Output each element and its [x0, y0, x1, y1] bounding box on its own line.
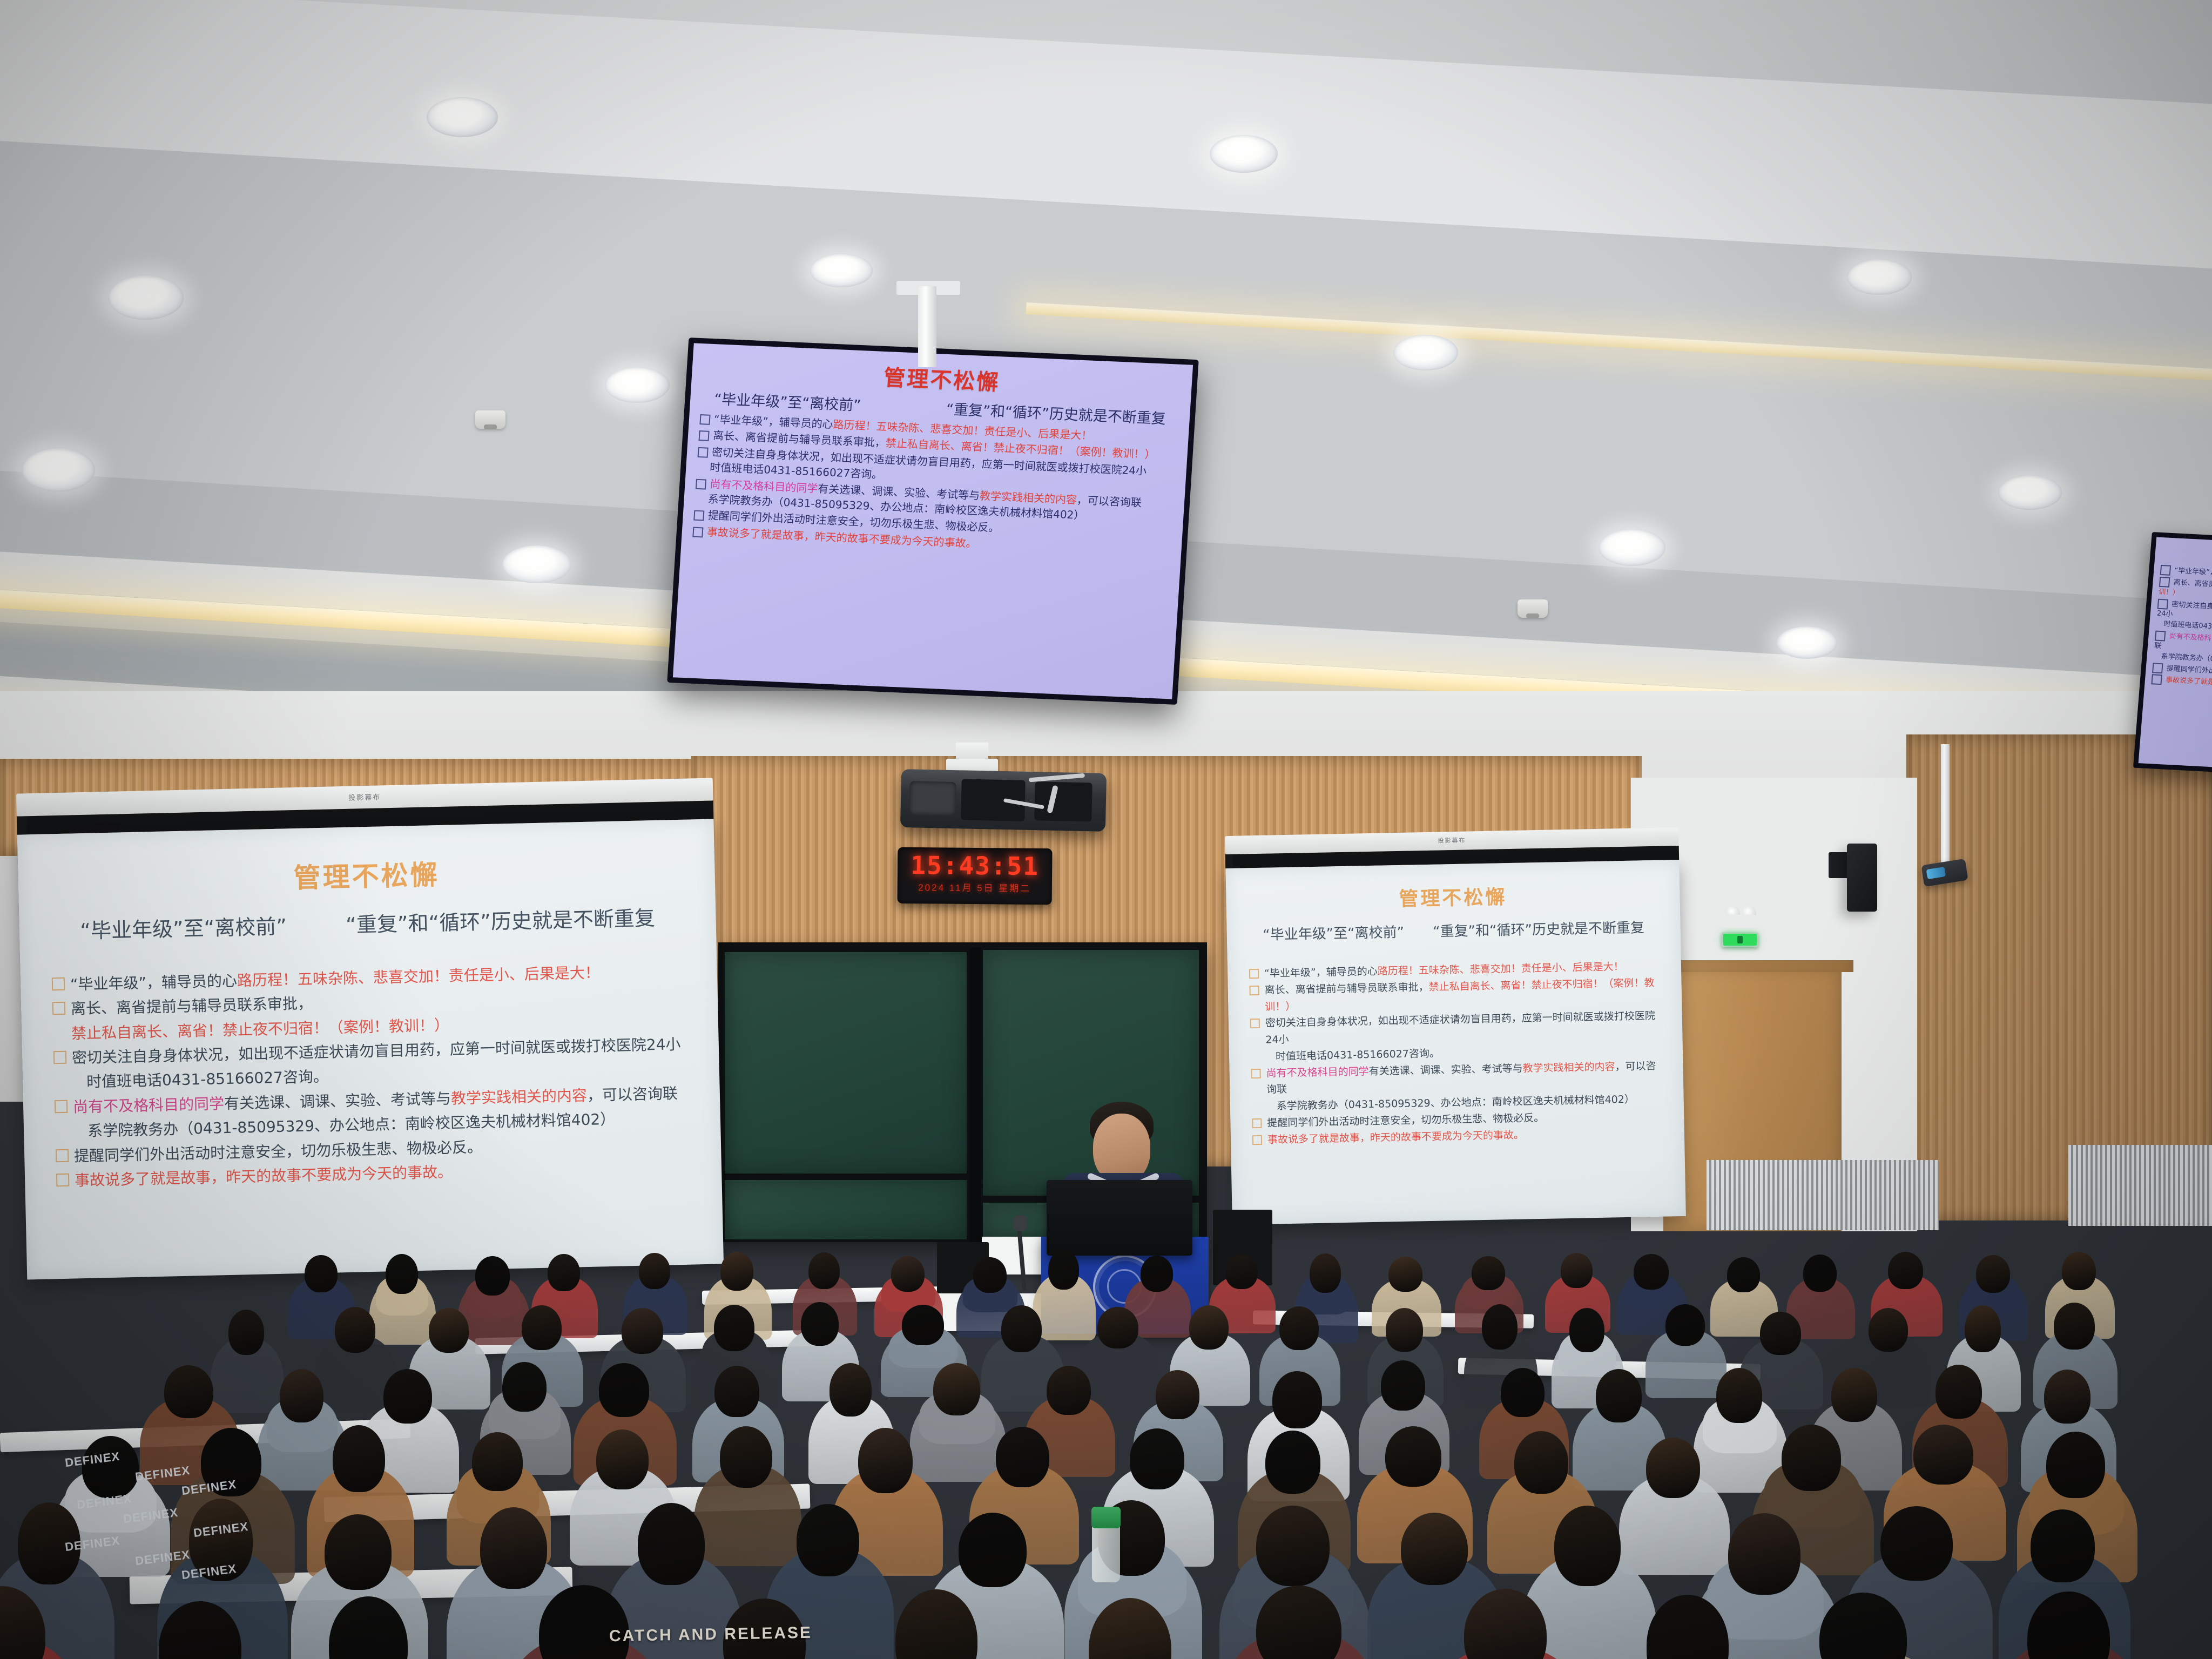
- slide-text-segment: 事故说多了就是故事，昨天的故事不要成为今天的事故。: [75, 1163, 453, 1189]
- audience-member-head: [1888, 1252, 1923, 1289]
- bullet-checkbox-icon: [55, 1100, 68, 1114]
- bullet-checkbox-icon: [2152, 663, 2163, 673]
- audience-member-head: [1388, 1257, 1422, 1292]
- audience-member-head: [305, 1255, 338, 1292]
- audience-member-head: [720, 1426, 772, 1488]
- digital-clock: 15:43:51 2024 11月 5日 星期二: [898, 847, 1053, 905]
- audience-member-head: [2062, 1252, 2096, 1290]
- slide-text-segment: “毕业年级”，辅导员的心: [1264, 966, 1378, 980]
- audience-member-head: [164, 1365, 213, 1418]
- audience-member-head: [801, 1302, 839, 1346]
- audience-member-head: [858, 1428, 913, 1493]
- slide-left-subtitle-b: “重复”和“循环”历史就是不断重复: [346, 901, 656, 938]
- audience-member-head: [1386, 1308, 1423, 1352]
- tv-mount-pole: [918, 286, 936, 367]
- bullet-checkbox-icon: [1249, 986, 1259, 995]
- audience-member-head: [1869, 1308, 1908, 1352]
- audience-member-head: [1596, 1369, 1642, 1422]
- audience-member-head: [82, 1436, 139, 1498]
- slide-bullet: 事故说多了就是故事，昨天的故事不要成为今天的事故。: [2151, 675, 2212, 700]
- door-frame-trim: [1653, 960, 1853, 972]
- slide-bullet-text: 事故说多了就是故事，昨天的故事不要成为今天的事故。: [2165, 676, 2212, 693]
- audience-member-head: [325, 1514, 392, 1590]
- audience-member-head: [2044, 1370, 2090, 1424]
- audience-member-head: [1225, 1255, 1258, 1289]
- slide-right-subtitle-a: “毕业年级”至“离校前”: [1263, 921, 1405, 944]
- audience-member-head: [596, 1429, 649, 1489]
- bullet-checkbox-icon: [2151, 675, 2162, 685]
- audience-member-head: [622, 1308, 663, 1354]
- smoke-detector-2: [475, 410, 505, 429]
- bullet-checkbox-icon: [56, 1149, 69, 1162]
- downlight-11: [1998, 475, 2062, 510]
- slide-right-subtitle: “毕业年级”至“离校前” “重复”和“循环”历史就是不断重复: [1248, 916, 1659, 945]
- audience-member-head: [472, 1432, 523, 1491]
- jacket-text-catch-and-release: CATCH AND RELEASE: [609, 1624, 813, 1646]
- slide-bullet-text: 密切关注自身身体状况，如出现不适症状请勿盲目用药，应第一时间就医或拨打校医院24…: [1265, 1008, 1662, 1065]
- audience-member-head: [1385, 1426, 1441, 1487]
- slide-left-subtitle: “毕业年级”至“离校前” “重复”和“循环”历史就是不断重复: [50, 901, 685, 945]
- audience-member-head: [1501, 1368, 1545, 1417]
- slide-text-segment: ，可以咨询联: [587, 1084, 678, 1104]
- audience-member-head: [1097, 1307, 1138, 1348]
- slide-text-segment: 尚有不及格科目的同学: [73, 1095, 225, 1116]
- audience-member-head: [1569, 1308, 1604, 1352]
- audience-member-head: [2031, 1509, 2095, 1582]
- water-bottle-cap: [1091, 1507, 1121, 1528]
- screen-left-surface: 管理不松懈 “毕业年级”至“离校前” “重复”和“循环”历史就是不断重复 “毕业…: [17, 819, 724, 1279]
- audience-member-head: [1831, 1368, 1877, 1422]
- slide-bullet-text: 尚有不及格科目的同学有关选课、调课、实验、考试等与教学实践相关的内容，可以咨询联…: [1266, 1057, 1662, 1115]
- bullet-checkbox-icon: [56, 1174, 70, 1187]
- slide-left-bullets: “毕业年级”，辅导员的心路历程！五味杂陈、悲喜交加！责任是小、后果是大！离长、离…: [51, 959, 690, 1193]
- audience-member-head: [1803, 1255, 1837, 1292]
- audience-member-head: [1760, 1312, 1801, 1355]
- slide-bullet: 尚有不及格科目的同学有关选课、调课、实验、考试等与教学实践相关的内容，可以咨询联…: [1251, 1057, 1662, 1115]
- slide-left-title: 管理不松懈: [49, 848, 684, 901]
- bullet-checkbox-icon: [699, 414, 710, 425]
- bullet-checkbox-icon: [693, 510, 704, 521]
- clock-time: 15:43:51: [898, 851, 1052, 881]
- tv-bullet-list: “毕业年级”，辅导员的心路历程！五味杂陈、悲喜交加！责任是小、后果是大！离长、离…: [692, 411, 1178, 559]
- bullet-checkbox-icon: [52, 1002, 66, 1015]
- exit-sign-glow: [1723, 934, 1757, 946]
- slide-right: 管理不松懈 “毕业年级”至“离校前” “重复”和“循环”历史就是不断重复 “毕业…: [1225, 860, 1686, 1225]
- audience-member-head: [1976, 1255, 2010, 1293]
- slide-bullet: 密切关注自身身体状况，如出现不适症状请勿盲目用药，应第一时间就医或拨打校医院24…: [1250, 1008, 1662, 1065]
- audience-member-head: [797, 1504, 859, 1576]
- screen-right-surface: 管理不松懈 “毕业年级”至“离校前” “重复”和“循环”历史就是不断重复 “毕业…: [1225, 860, 1686, 1225]
- audience-member-head: [1646, 1438, 1700, 1498]
- slide-text-segment: 事故说多了就是故事，昨天的故事不要成为今天的事故。: [2165, 676, 2212, 693]
- slide-right-title: 管理不松懈: [1247, 879, 1658, 915]
- audience-member-head: [1716, 1368, 1762, 1423]
- chalkboard-divider: [970, 948, 981, 1242]
- audience-member-head: [429, 1308, 469, 1353]
- audience-member-head: [386, 1254, 418, 1294]
- audience-member-head: [1156, 1370, 1199, 1419]
- lecture-hall-scene: 管理不松懈 “毕业年级”至“离校前” “重复”和“循环”历史就是不断重复 “毕业…: [0, 0, 2212, 1659]
- audience-member-head: [1272, 1371, 1322, 1428]
- audience-member-head: [808, 1252, 840, 1289]
- slide-left: 管理不松懈 “毕业年级”至“离校前” “重复”和“循环”历史就是不断重复 “毕业…: [17, 819, 724, 1279]
- audience-member-head: [1965, 1305, 2001, 1352]
- audience-member-head: [1047, 1366, 1091, 1415]
- audience-member-head: [973, 1257, 1007, 1293]
- bullet-checkbox-icon: [2159, 577, 2170, 588]
- audience-member-head: [1514, 1431, 1568, 1494]
- chalkboard-panel-top-left: [725, 952, 967, 1174]
- tv-subtitle-left: “毕业年级”至“离校前”: [713, 387, 861, 415]
- podium-monitor[interactable]: [1047, 1180, 1192, 1256]
- screen-left-label: 投影幕布: [348, 791, 381, 802]
- downlight-3: [427, 97, 498, 137]
- audience-member-head: [1401, 1513, 1468, 1585]
- slide-text-segment: ，可以咨询联: [1076, 493, 1142, 509]
- downlight-2: [22, 448, 95, 491]
- audience-member-head: [1472, 1256, 1505, 1290]
- smoke-detector: [1518, 599, 1548, 618]
- lecturer-head: [1093, 1114, 1150, 1183]
- audience-member-head: [1189, 1305, 1229, 1350]
- audience-member-head: [638, 1503, 705, 1585]
- projector-vent-right: [1034, 781, 1092, 821]
- slide-text-segment: “毕业年级”，辅导员的心: [2174, 567, 2212, 578]
- audience-member-head: [599, 1363, 649, 1417]
- audience-member-head: [1381, 1360, 1425, 1411]
- downlight-9: [1599, 529, 1665, 566]
- bullet-checkbox-icon: [2157, 598, 2169, 609]
- audience-member-head: [335, 1307, 375, 1353]
- audience-member-head: [1482, 1304, 1518, 1350]
- downlight-7: [1210, 135, 1278, 173]
- slide-text-segment: 离长、离省提前与辅导员联系审批，: [71, 995, 313, 1018]
- slide-text-segment: 尚有不及格科目的同学: [1266, 1065, 1368, 1080]
- slide-text-segment: 路历程！五味杂陈、悲喜交加！责任是小、后果是大！: [1378, 961, 1624, 977]
- audience-member-head: [548, 1254, 580, 1291]
- audience-member-head: [1728, 1513, 1800, 1595]
- audience-member-head: [2046, 1432, 2105, 1498]
- camera-lens: [1926, 867, 1946, 879]
- bullet-checkbox-icon: [696, 478, 706, 489]
- audience-member-head: [1634, 1254, 1669, 1290]
- audience-member-head: [829, 1363, 872, 1417]
- audience-member-head: [1665, 1304, 1705, 1346]
- bullet-checkbox-icon: [1252, 1135, 1262, 1145]
- exit-sign: [1722, 932, 1758, 947]
- audience-member-head: [1256, 1506, 1330, 1586]
- bullet-checkbox-icon: [698, 430, 709, 441]
- audience-member-head: [891, 1256, 925, 1292]
- slide-text-segment: 离长、离省提前与辅导员联系审批，: [1264, 981, 1428, 996]
- downlight-10: [1847, 259, 1912, 295]
- audience-member-head: [228, 1310, 264, 1355]
- bullet-checkbox-icon: [53, 1051, 67, 1064]
- audience-member-head: [639, 1253, 670, 1289]
- audience-member-head: [2054, 1303, 2095, 1350]
- audience-member-head: [1279, 1306, 1319, 1350]
- slide-text-segment: 事故说多了就是故事，昨天的故事不要成为今天的事故。: [1267, 1129, 1524, 1145]
- audience-member-head: [1130, 1428, 1184, 1489]
- audience-member-head: [1141, 1256, 1173, 1292]
- audience-member-head: [714, 1305, 754, 1351]
- audience-member-head: [1880, 1506, 1953, 1581]
- bullet-checkbox-icon: [52, 977, 65, 991]
- slide-text-segment: 提醒同学们外出活动时注意安全，切勿乐极生悲、物极必反。: [1267, 1112, 1544, 1129]
- projection-screen-left: 投影幕布 管理不松懈 “毕业年级”至“离校前” “重复”和“循环”历史就是不断重…: [16, 778, 724, 1279]
- tv2-bullet-list: “毕业年级”，辅导员的心路历程！五味杂陈、悲喜交加！责任是小、后果是大！离长、离…: [2151, 565, 2212, 700]
- bullet-checkbox-icon: [692, 527, 703, 537]
- slide-left-subtitle-a: “毕业年级”至“离校前”: [80, 909, 287, 944]
- slide-text-segment: 密切关注自身身体状况，如出现不适症状请勿盲目用药，应第一时间就医或拨打校医院24…: [1265, 1010, 1655, 1046]
- audience-member-head: [720, 1252, 753, 1291]
- audience-member-head: [996, 1427, 1049, 1487]
- audience-member-head: [1727, 1257, 1760, 1292]
- slide-right-subtitle-b: “重复”和“循环”历史就是不断重复: [1433, 916, 1645, 941]
- audience-member-head: [1001, 1305, 1042, 1352]
- audience-member-head: [714, 1366, 759, 1417]
- audience-member-head: [1561, 1253, 1593, 1288]
- audience-member-head: [1310, 1253, 1341, 1293]
- emergency-light-housing: [1724, 915, 1756, 928]
- downlight-6: [810, 254, 873, 287]
- audience-member-head: [959, 1513, 1027, 1587]
- bullet-checkbox-icon: [1250, 1019, 1260, 1028]
- camera-pole: [1941, 744, 1950, 868]
- wall-speaker: [1847, 844, 1877, 912]
- downlight-1: [108, 275, 184, 320]
- slide-text-segment: “毕业年级”，辅导员的心: [70, 972, 238, 994]
- downlight-12: [1777, 626, 1837, 659]
- audience-member-head: [522, 1305, 562, 1350]
- audience-member-head: [933, 1363, 980, 1415]
- audience-member-head: [1913, 1425, 1973, 1485]
- audience-member-head: [1048, 1250, 1079, 1290]
- slide-right-bullets: “毕业年级”，辅导员的心路历程！五味杂陈、悲喜交加！责任是小、后果是大！离长、离…: [1249, 958, 1663, 1149]
- slide-text-segment: 有关选课、调课、实验、考试等与: [224, 1089, 451, 1112]
- audience-member-head: [280, 1369, 323, 1422]
- bullet-checkbox-icon: [1249, 969, 1259, 979]
- projector-cable-1: [1029, 773, 1085, 783]
- projection-screen-right: 投影幕布 管理不松懈 “毕业年级”至“离校前” “重复”和“循环”历史就是不断重…: [1225, 827, 1686, 1225]
- overhead-display-secondary-screen: 管理不松懈 “毕业年级”，辅导员的心路历程！五味杂陈、悲喜交加！责任是小、后果是…: [2139, 537, 2212, 779]
- bullet-checkbox-icon: [2155, 631, 2166, 642]
- slide-text-segment: 尚有不及格科目的同学: [2169, 632, 2212, 644]
- slide-text-segment: 有关选课、调课、实验、考试等与: [1368, 1062, 1522, 1077]
- audience-member-head: [1265, 1431, 1320, 1494]
- bullet-checkbox-icon: [1252, 1118, 1262, 1128]
- downlight-5: [502, 545, 571, 583]
- audience-member-head: [1554, 1506, 1621, 1586]
- audience-member-head: [383, 1369, 432, 1424]
- microphone: [1013, 1215, 1027, 1231]
- audience-member-head: [1935, 1365, 1982, 1419]
- tv-slide-secondary: 管理不松懈 “毕业年级”，辅导员的心路历程！五味杂陈、悲喜交加！责任是小、后果是…: [2139, 537, 2212, 779]
- overhead-display-screen: 管理不松懈 “毕业年级”至“离校前” “重复”和“循环”历史就是不断重复 “毕业…: [673, 343, 1193, 699]
- wall-radiator-grille: [1707, 1160, 1939, 1230]
- audience-member-head: [475, 1256, 510, 1296]
- audience-member-head: [333, 1425, 385, 1492]
- audience-member-head: [480, 1507, 547, 1589]
- audience-member-head: [1782, 1425, 1841, 1491]
- bullet-checkbox-icon: [1251, 1069, 1260, 1078]
- chalkboard-panel-bottom-left: [725, 1180, 967, 1239]
- downlight-8: [1393, 335, 1458, 370]
- wall-radiator-grille-2: [2068, 1145, 2212, 1226]
- audience-member-head: [902, 1305, 944, 1345]
- clock-date: 2024 11月 5日 星期二: [898, 880, 1052, 894]
- tv-slide: 管理不松懈 “毕业年级”至“离校前” “重复”和“循环”历史就是不断重复 “毕业…: [673, 343, 1193, 699]
- audience-member-head: [502, 1362, 547, 1412]
- projector-lens: [909, 781, 956, 815]
- overhead-display: 管理不松懈 “毕业年级”至“离校前” “重复”和“循环”历史就是不断重复 “毕业…: [667, 338, 1198, 705]
- screen-right-label: 投影幕布: [1438, 836, 1466, 845]
- slide-text-segment: 教学实践相关的内容: [451, 1087, 588, 1108]
- bullet-checkbox-icon: [698, 447, 709, 458]
- bullet-checkbox-icon: [2160, 565, 2171, 576]
- downlight-4: [605, 367, 670, 403]
- ceiling-projector: [900, 769, 1107, 832]
- slide-text-segment: 教学实践相关的内容: [1522, 1061, 1615, 1074]
